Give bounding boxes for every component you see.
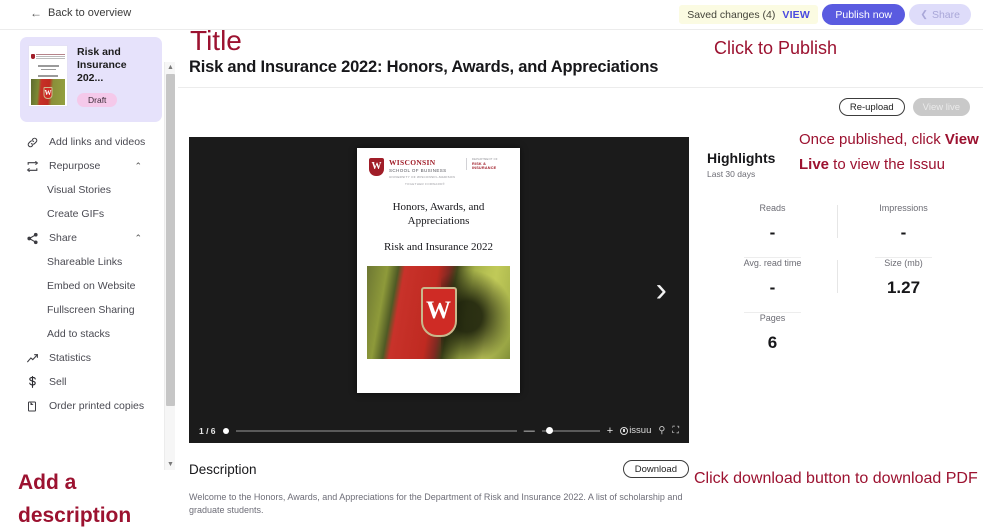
- highlights-subtitle: Last 30 days: [707, 169, 969, 179]
- description-body: Welcome to the Honors, Awards, and Appre…: [189, 491, 689, 517]
- sidebar-item-label: Sell: [49, 376, 67, 388]
- share-nodes-icon: [25, 231, 39, 245]
- stat-value: -: [707, 224, 838, 242]
- zoom-in-button[interactable]: +: [607, 425, 613, 437]
- stat-label: Reads: [707, 203, 838, 213]
- sidebar-item-sell[interactable]: Sell: [0, 370, 170, 394]
- publish-now-button[interactable]: Publish now: [822, 4, 905, 25]
- highlights-stats-row: Reads - Impressions -: [707, 203, 969, 258]
- sidebar-item-statistics[interactable]: Statistics: [0, 346, 170, 370]
- stat-label: Size (mb): [838, 258, 969, 268]
- description-header: Description Download: [189, 460, 689, 478]
- page-slider-handle[interactable]: [223, 428, 229, 434]
- sidebar-item-create-gifs[interactable]: Create GIFs: [0, 202, 170, 226]
- stat-size-mb: Size (mb) 1.27: [838, 258, 969, 313]
- page-title: Risk and Insurance 2022: Honors, Awards,…: [189, 58, 658, 77]
- chevron-right-icon[interactable]: ›: [656, 273, 667, 307]
- main-content: Risk and Insurance 2022: Honors, Awards,…: [178, 30, 983, 532]
- sidebar-item-add-to-stacks[interactable]: Add to stacks: [0, 322, 170, 346]
- dept-line-2: RISK & INSURANCE: [472, 162, 508, 170]
- sidebar-item-label: Fullscreen Sharing: [47, 304, 135, 316]
- saved-changes-badge: Saved changes (4) VIEW: [679, 5, 818, 24]
- page-cover-photo: W: [367, 266, 510, 359]
- stat-value: -: [707, 279, 838, 297]
- scroll-down-arrow-icon[interactable]: ▼: [165, 459, 176, 470]
- stat-label: Avg. read time: [707, 258, 838, 268]
- page-heading-1: Honors, Awards, and Appreciations: [369, 200, 508, 228]
- share-button-label: Share: [932, 9, 960, 21]
- sidebar-item-label: Shareable Links: [47, 256, 122, 268]
- print-page-icon: [25, 399, 39, 413]
- back-to-overview-link[interactable]: ← Back to overview: [30, 7, 131, 19]
- zoom-slider-track[interactable]: [542, 430, 600, 432]
- sidebar-nav: Add links and videos Repurpose ⌃ Visual …: [0, 130, 170, 418]
- brand-line-4: TOGETHER FORWARD®: [389, 182, 461, 186]
- document-card[interactable]: W Risk and Insurance 202... Draft: [20, 37, 162, 122]
- page-heading-2: Risk and Insurance 2022: [369, 240, 508, 255]
- download-button[interactable]: Download: [623, 460, 689, 478]
- description-section: Description Download Welcome to the Hono…: [189, 460, 689, 517]
- sidebar-item-label: Create GIFs: [47, 208, 104, 220]
- brand-line-1: WISCONSIN: [389, 158, 461, 167]
- sidebar-item-label: Share: [49, 232, 77, 244]
- sidebar-item-label: Order printed copies: [49, 400, 144, 412]
- stat-value: 6: [707, 334, 838, 352]
- view-live-button[interactable]: View live: [913, 98, 970, 116]
- sidebar-item-label: Embed on Website: [47, 280, 136, 292]
- status-badge: Draft: [77, 93, 117, 107]
- dept-line-1: DEPARTMENT OF: [472, 158, 508, 161]
- thumbnail-crest-icon: [31, 54, 35, 59]
- sidebar-item-visual-stories[interactable]: Visual Stories: [0, 178, 170, 202]
- link-icon: [25, 135, 39, 149]
- stat-label: Pages: [707, 313, 838, 323]
- wisconsin-crest-icon: [369, 158, 384, 176]
- sidebar-item-add-links-and-videos[interactable]: Add links and videos: [0, 130, 170, 154]
- stat-value: 1.27: [838, 279, 969, 297]
- document-card-title: Risk and Insurance 202...: [77, 46, 155, 85]
- stat-reads: Reads -: [707, 203, 838, 258]
- brand-line-3: UNIVERSITY OF WISCONSIN–MADISON: [389, 175, 461, 179]
- re-upload-button[interactable]: Re-upload: [839, 98, 905, 116]
- sidebar: W Risk and Insurance 202... Draft Add li…: [0, 30, 178, 532]
- expand-icon[interactable]: ⛶: [672, 425, 679, 436]
- repurpose-icon: [25, 159, 39, 173]
- saved-changes-label: Saved changes (4): [687, 9, 775, 21]
- issuu-publisher-screen: ← Back to overview Saved changes (4) VIE…: [0, 0, 983, 532]
- share-nodes-icon: ❮: [920, 9, 928, 20]
- sidebar-item-repurpose[interactable]: Repurpose ⌃: [0, 154, 170, 178]
- issuu-wordmark: issuu: [629, 425, 651, 436]
- sidebar-item-label: Add to stacks: [47, 328, 110, 340]
- sidebar-item-label: Repurpose: [49, 160, 100, 172]
- sidebar-item-fullscreen-sharing[interactable]: Fullscreen Sharing: [0, 298, 170, 322]
- brand-line-2: SCHOOL OF BUSINESS: [389, 168, 461, 173]
- sidebar-item-order-printed-copies[interactable]: Order printed copies: [0, 394, 170, 418]
- highlights-stats-grid: Reads - Impressions - Avg. read time -: [707, 203, 969, 368]
- highlights-title: Highlights: [707, 150, 969, 166]
- document-actions-toolbar: Re-upload View live: [839, 98, 970, 116]
- highlights-panel: Highlights Last 30 days Reads - Impressi…: [707, 150, 969, 368]
- sidebar-item-embed-on-website[interactable]: Embed on Website: [0, 274, 170, 298]
- zoom-out-button[interactable]: —: [524, 425, 535, 437]
- arrow-left-icon: ←: [30, 7, 42, 19]
- share-button[interactable]: ❮ Share: [909, 4, 971, 25]
- sidebar-item-label: Visual Stories: [47, 184, 111, 196]
- stat-avg-read-time: Avg. read time -: [707, 258, 838, 313]
- page-slider-track[interactable]: [236, 430, 517, 432]
- sidebar-scrollbar[interactable]: ▲ ▼: [164, 62, 175, 470]
- stat-impressions: Impressions -: [838, 203, 969, 258]
- issuu-mark-icon: [620, 427, 628, 435]
- highlights-stats-row: Pages 6: [707, 313, 969, 368]
- dollar-icon: [25, 375, 39, 389]
- stat-value: -: [838, 224, 969, 242]
- sidebar-item-label: Add links and videos: [49, 136, 145, 148]
- magnifier-icon[interactable]: ⚲: [658, 425, 665, 436]
- top-bar: ← Back to overview Saved changes (4) VIE…: [0, 0, 983, 30]
- chart-line-icon: [25, 351, 39, 365]
- document-thumbnail: W: [28, 45, 68, 107]
- sidebar-item-shareable-links[interactable]: Shareable Links: [0, 250, 170, 274]
- stat-pages: Pages 6: [707, 313, 838, 368]
- header-divider: [178, 87, 983, 88]
- issuu-logo: issuu: [620, 425, 651, 436]
- sidebar-item-label: Statistics: [49, 352, 91, 364]
- description-title: Description: [189, 462, 257, 477]
- chevron-up-icon[interactable]: ⌃: [134, 233, 142, 244]
- back-to-overview-label: Back to overview: [48, 7, 131, 19]
- sidebar-item-share[interactable]: Share ⌃: [0, 226, 170, 250]
- scroll-up-arrow-icon[interactable]: ▲: [165, 62, 176, 73]
- document-viewer[interactable]: WISCONSIN SCHOOL OF BUSINESS UNIVERSITY …: [189, 137, 689, 443]
- shield-letter: W: [426, 298, 451, 323]
- viewer-toolbar: 1 / 6 — + issuu ⚲ ⛶: [189, 418, 689, 443]
- w-shield-icon: W: [421, 287, 457, 337]
- page-counter: 1 / 6: [199, 426, 216, 436]
- highlights-stats-row: Avg. read time - Size (mb) 1.27: [707, 258, 969, 313]
- scrollbar-thumb[interactable]: [166, 74, 175, 406]
- stat-label: Impressions: [838, 203, 969, 213]
- zoom-slider-handle[interactable]: [546, 427, 553, 434]
- saved-changes-view-link[interactable]: VIEW: [782, 9, 810, 21]
- chevron-up-icon[interactable]: ⌃: [134, 161, 142, 172]
- document-page-1: WISCONSIN SCHOOL OF BUSINESS UNIVERSITY …: [357, 148, 520, 393]
- document-heading: Risk and Insurance 2022: Honors, Awards,…: [189, 58, 658, 77]
